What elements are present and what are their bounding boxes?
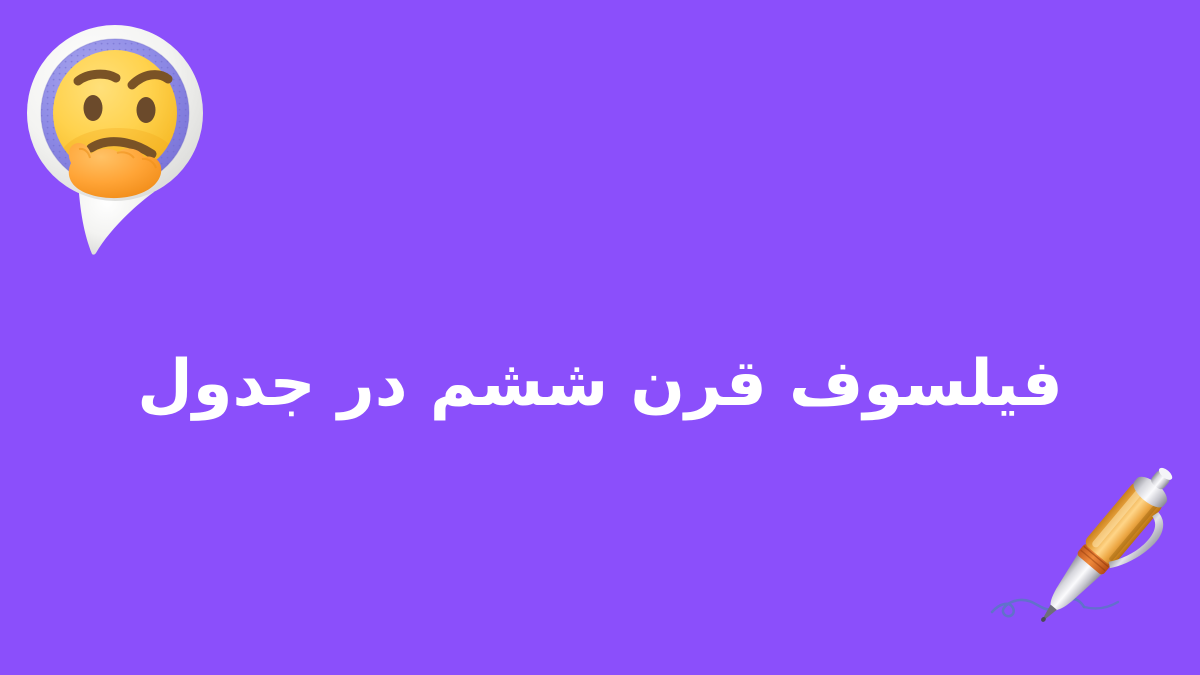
title-card-canvas: فیلسوف قرن ششم در جدول	[0, 0, 1200, 675]
pen-body	[1027, 459, 1196, 645]
thinking-face-icon	[53, 50, 178, 198]
headline-container: فیلسوف قرن ششم در جدول	[0, 306, 1200, 463]
thinking-face-speech-bubble-badge	[22, 12, 212, 260]
page-title: فیلسوف قرن ششم در جدول	[137, 349, 1063, 421]
ballpoint-pen-icon	[980, 462, 1186, 648]
